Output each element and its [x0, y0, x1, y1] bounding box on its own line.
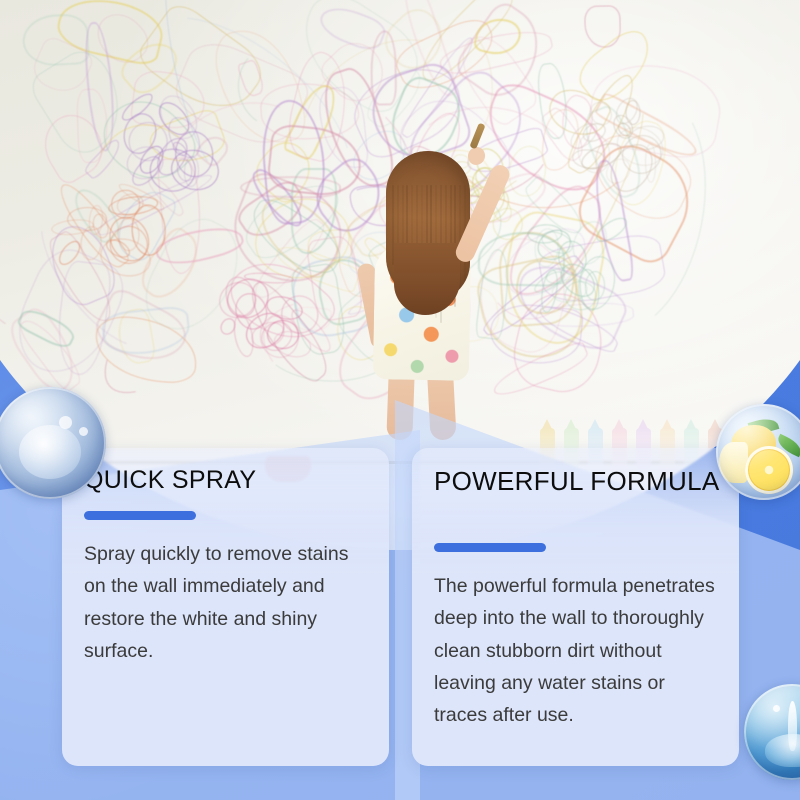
- feature-card-quick-spray[interactable]: QUICK SPRAY Spray quickly to remove stai…: [62, 448, 389, 766]
- card-title: QUICK SPRAY: [84, 466, 375, 495]
- card-body: Spray quickly to remove stains on the wa…: [84, 538, 373, 667]
- card-body: The powerful formula penetrates deep int…: [434, 570, 723, 732]
- accent-bar: [84, 511, 196, 520]
- accent-bar: [434, 543, 546, 552]
- feature-card-powerful-formula[interactable]: POWERFUL FORMULA The powerful formula pe…: [412, 448, 739, 766]
- infographic-canvas: QUICK SPRAY Spray quickly to remove stai…: [0, 0, 800, 800]
- card-title: POWERFUL FORMULA: [434, 466, 725, 496]
